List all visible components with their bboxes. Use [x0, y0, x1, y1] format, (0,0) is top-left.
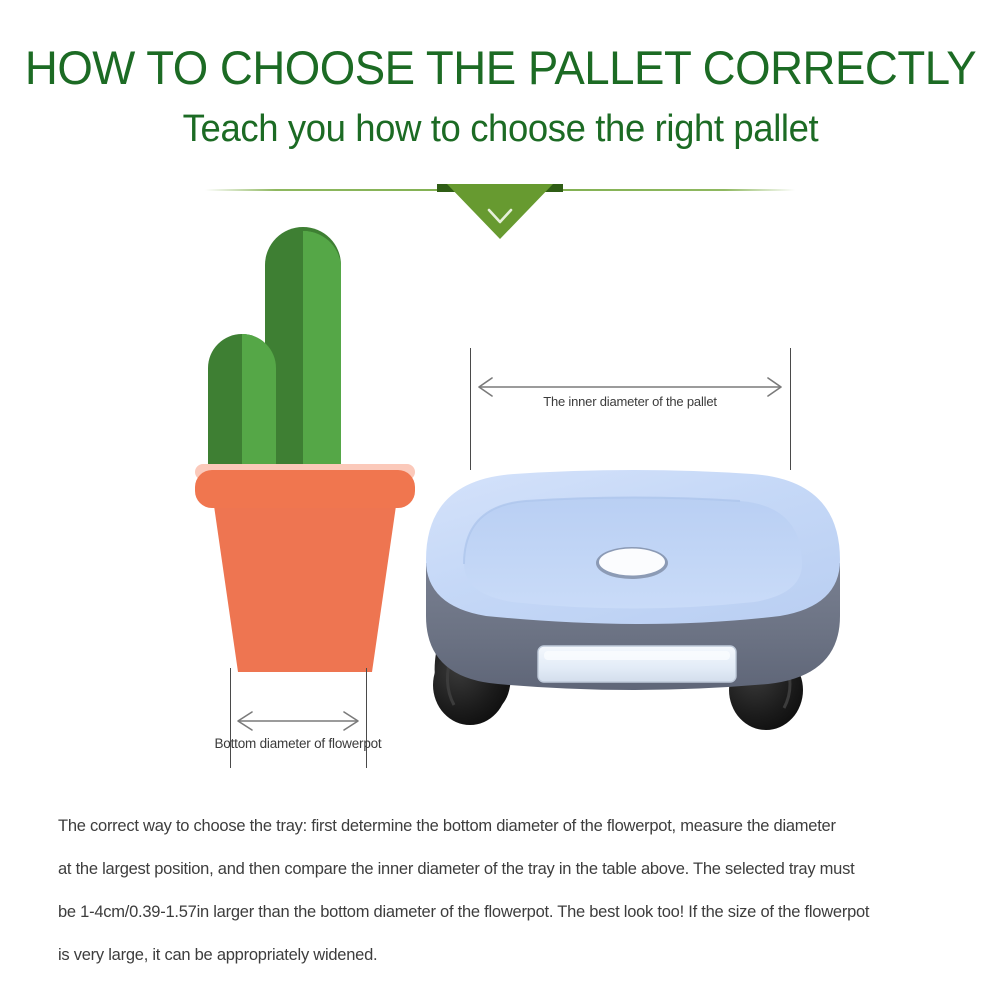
guide-line-left	[230, 668, 231, 768]
chevron-down-icon	[487, 208, 513, 226]
tray-front-drawer	[538, 646, 736, 682]
body-line: The correct way to choose the tray: firs…	[58, 805, 948, 848]
guide-line-left	[470, 348, 471, 470]
dimension-label-flowerpot: Bottom diameter of flowerpot	[212, 736, 384, 751]
dimension-flowerpot-bottom-diameter: Bottom diameter of flowerpot	[230, 668, 430, 778]
double-arrow-icon	[233, 710, 363, 732]
body-line: be 1-4cm/0.39-1.57in larger than the bot…	[58, 891, 948, 934]
terracotta-flowerpot	[190, 458, 420, 678]
guide-line-right	[790, 348, 791, 470]
cactus-plant	[190, 205, 420, 495]
flowerpot-body	[212, 492, 398, 672]
body-paragraph: The correct way to choose the tray: firs…	[58, 805, 948, 977]
page-title: HOW TO CHOOSE THE PALLET CORRECTLY	[15, 44, 986, 91]
flowerpot-rim	[195, 470, 415, 508]
oval-drain-hole	[596, 547, 668, 579]
infographic-page: HOW TO CHOOSE THE PALLET CORRECTLY Teach…	[0, 0, 1001, 1001]
body-line: at the largest position, and then compar…	[58, 848, 948, 891]
page-subtitle: Teach you how to choose the right pallet	[20, 110, 981, 148]
cactus-tall-lobe-light-2	[303, 231, 341, 495]
dimension-label-pallet: The inner diameter of the pallet	[470, 394, 790, 409]
divider-badge	[437, 184, 563, 240]
blue-plant-caddy-tray	[418, 468, 848, 768]
dimension-pallet-inner-diameter: The inner diameter of the pallet	[470, 348, 800, 478]
guide-line-right	[366, 668, 367, 768]
body-line: is very large, it can be appropriately w…	[58, 934, 948, 977]
